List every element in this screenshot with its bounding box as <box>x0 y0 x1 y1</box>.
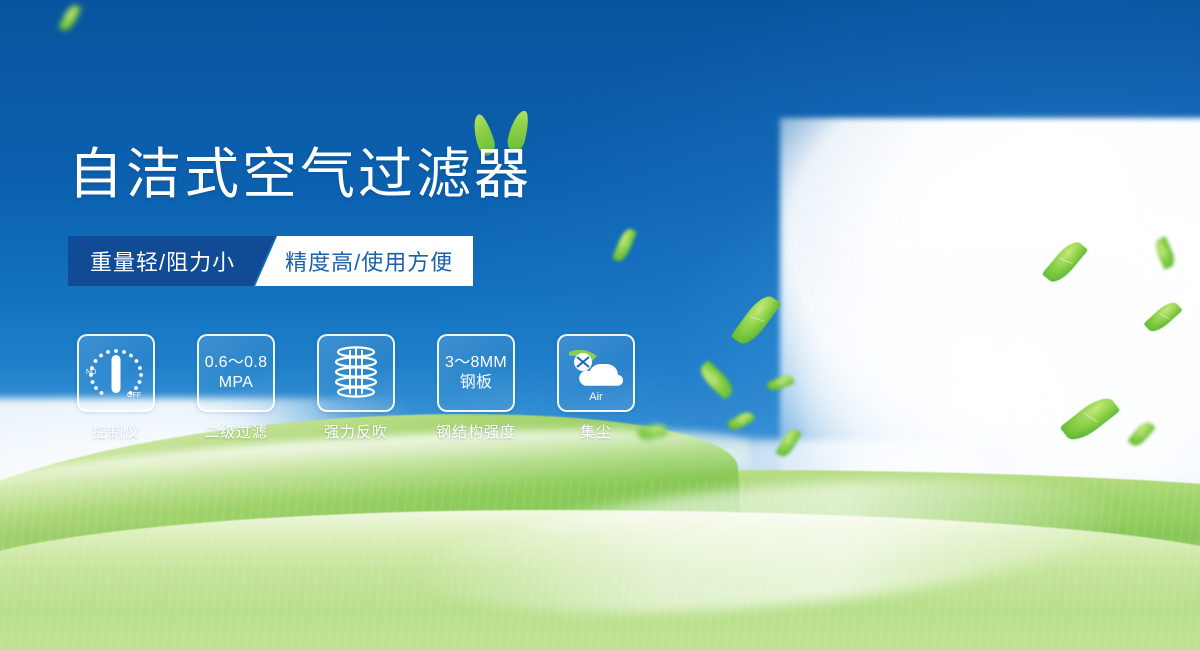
feature-item-filtration[interactable]: 0.6～0.8 MPA 二级过滤 <box>192 334 280 442</box>
blowback-icon <box>317 334 395 412</box>
feature-label: 控制仪 <box>92 421 140 442</box>
pressure-unit: MPA <box>219 373 253 393</box>
feature-label: 强力反吹 <box>324 421 388 442</box>
steel-material: 钢板 <box>460 373 493 393</box>
grass-texture <box>0 480 1200 650</box>
subtitle-right-panel: 精度高/使用方便 <box>255 236 473 286</box>
cloud-air-icon: Air <box>557 334 635 412</box>
gauge-on-label: NO <box>86 369 97 376</box>
pressure-range: 0.6～0.8 <box>205 353 268 373</box>
feature-label: 集尘 <box>580 421 612 442</box>
gauge-off-label: OFF <box>127 392 141 399</box>
feature-label: 二级过滤 <box>204 421 268 442</box>
feature-item-steel[interactable]: 3～8MM 钢板 钢结构强度 <box>432 334 520 442</box>
feature-label: 钢结构强度 <box>436 421 516 442</box>
promo-banner: 自洁式空气过滤器 重量轻/阻力小 精度高/使用方便 <box>0 0 1200 650</box>
air-label: Air <box>589 391 603 403</box>
gauge-icon: NO OFF <box>77 334 155 412</box>
feature-list: NO OFF 控制仪 0.6～0.8 MPA 二级过滤 <box>72 334 640 442</box>
pressure-text-icon: 0.6～0.8 MPA <box>197 334 275 412</box>
steel-text-icon: 3～8MM 钢板 <box>437 334 515 412</box>
feature-item-controller[interactable]: NO OFF 控制仪 <box>72 334 160 442</box>
feature-item-dust[interactable]: Air 集尘 <box>552 334 640 442</box>
subtitle-left-panel: 重量轻/阻力小 <box>68 236 275 286</box>
steel-thickness: 3～8MM <box>445 353 507 373</box>
subtitle-bar: 重量轻/阻力小 精度高/使用方便 <box>68 236 473 286</box>
grass-field <box>0 410 1200 650</box>
feature-item-blowback[interactable]: 强力反吹 <box>312 334 400 442</box>
page-title: 自洁式空气过滤器 <box>68 146 532 204</box>
